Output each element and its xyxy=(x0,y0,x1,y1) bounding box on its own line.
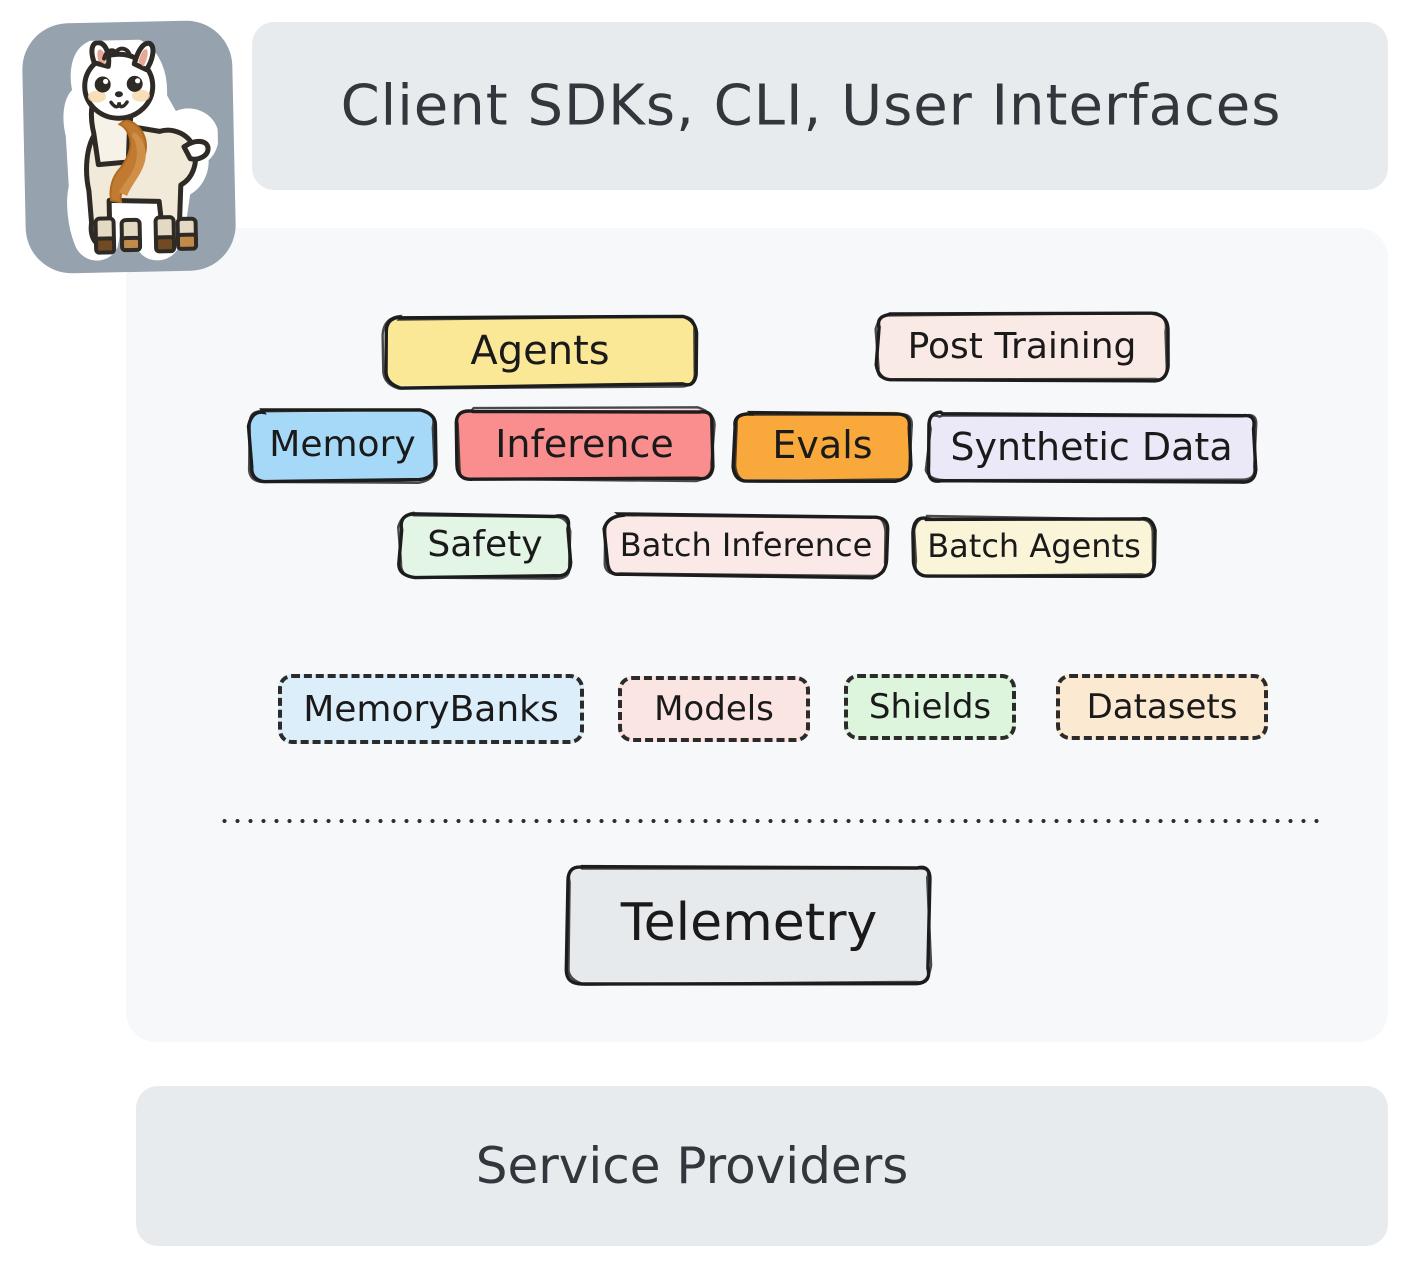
api-box-agents[interactable]: Agents xyxy=(385,318,695,386)
llama-logo-tile xyxy=(21,20,236,274)
section-divider xyxy=(218,818,1320,824)
api-box-evals-label: Evals xyxy=(772,426,872,466)
api-box-synthetic-data-label: Synthetic Data xyxy=(950,428,1232,468)
resource-box-models-label: Models xyxy=(654,689,774,729)
api-box-inference[interactable]: Inference xyxy=(457,410,712,480)
resource-box-shields-label: Shields xyxy=(869,687,991,727)
llama-logo-icon xyxy=(48,38,221,263)
resource-box-memorybanks[interactable]: MemoryBanks xyxy=(278,674,584,744)
api-box-safety-label: Safety xyxy=(427,527,542,565)
api-box-batch-agents-label: Batch Agents xyxy=(927,530,1141,564)
resource-box-shields[interactable]: Shields xyxy=(844,674,1016,740)
api-box-safety[interactable]: Safety xyxy=(400,515,570,577)
api-box-memory[interactable]: Memory xyxy=(250,412,435,480)
resource-box-datasets[interactable]: Datasets xyxy=(1056,674,1268,740)
api-box-memory-label: Memory xyxy=(269,427,415,465)
api-box-post-training[interactable]: Post Training xyxy=(877,315,1167,380)
telemetry-box[interactable]: Telemetry xyxy=(568,866,930,982)
api-box-post-training-label: Post Training xyxy=(908,329,1137,367)
api-box-batch-inference[interactable]: Batch Inference xyxy=(606,516,886,576)
api-box-agents-label: Agents xyxy=(470,331,609,373)
client-interfaces-bar: Client SDKs, CLI, User Interfaces xyxy=(252,22,1388,190)
api-box-evals[interactable]: Evals xyxy=(735,412,910,480)
telemetry-box-label: Telemetry xyxy=(621,897,878,951)
resource-box-memorybanks-label: MemoryBanks xyxy=(303,689,559,730)
client-interfaces-label: Client SDKs, CLI, User Interfaces xyxy=(252,74,1388,139)
service-providers-bar: Service Providers xyxy=(136,1086,1388,1246)
service-providers-label: Service Providers xyxy=(136,1137,1388,1195)
api-box-batch-inference-label: Batch Inference xyxy=(620,529,873,563)
resource-box-datasets-label: Datasets xyxy=(1087,687,1238,727)
api-box-inference-label: Inference xyxy=(495,425,674,465)
api-box-synthetic-data[interactable]: Synthetic Data xyxy=(928,414,1255,482)
api-box-batch-agents[interactable]: Batch Agents xyxy=(914,518,1154,576)
resource-box-models[interactable]: Models xyxy=(618,676,810,742)
